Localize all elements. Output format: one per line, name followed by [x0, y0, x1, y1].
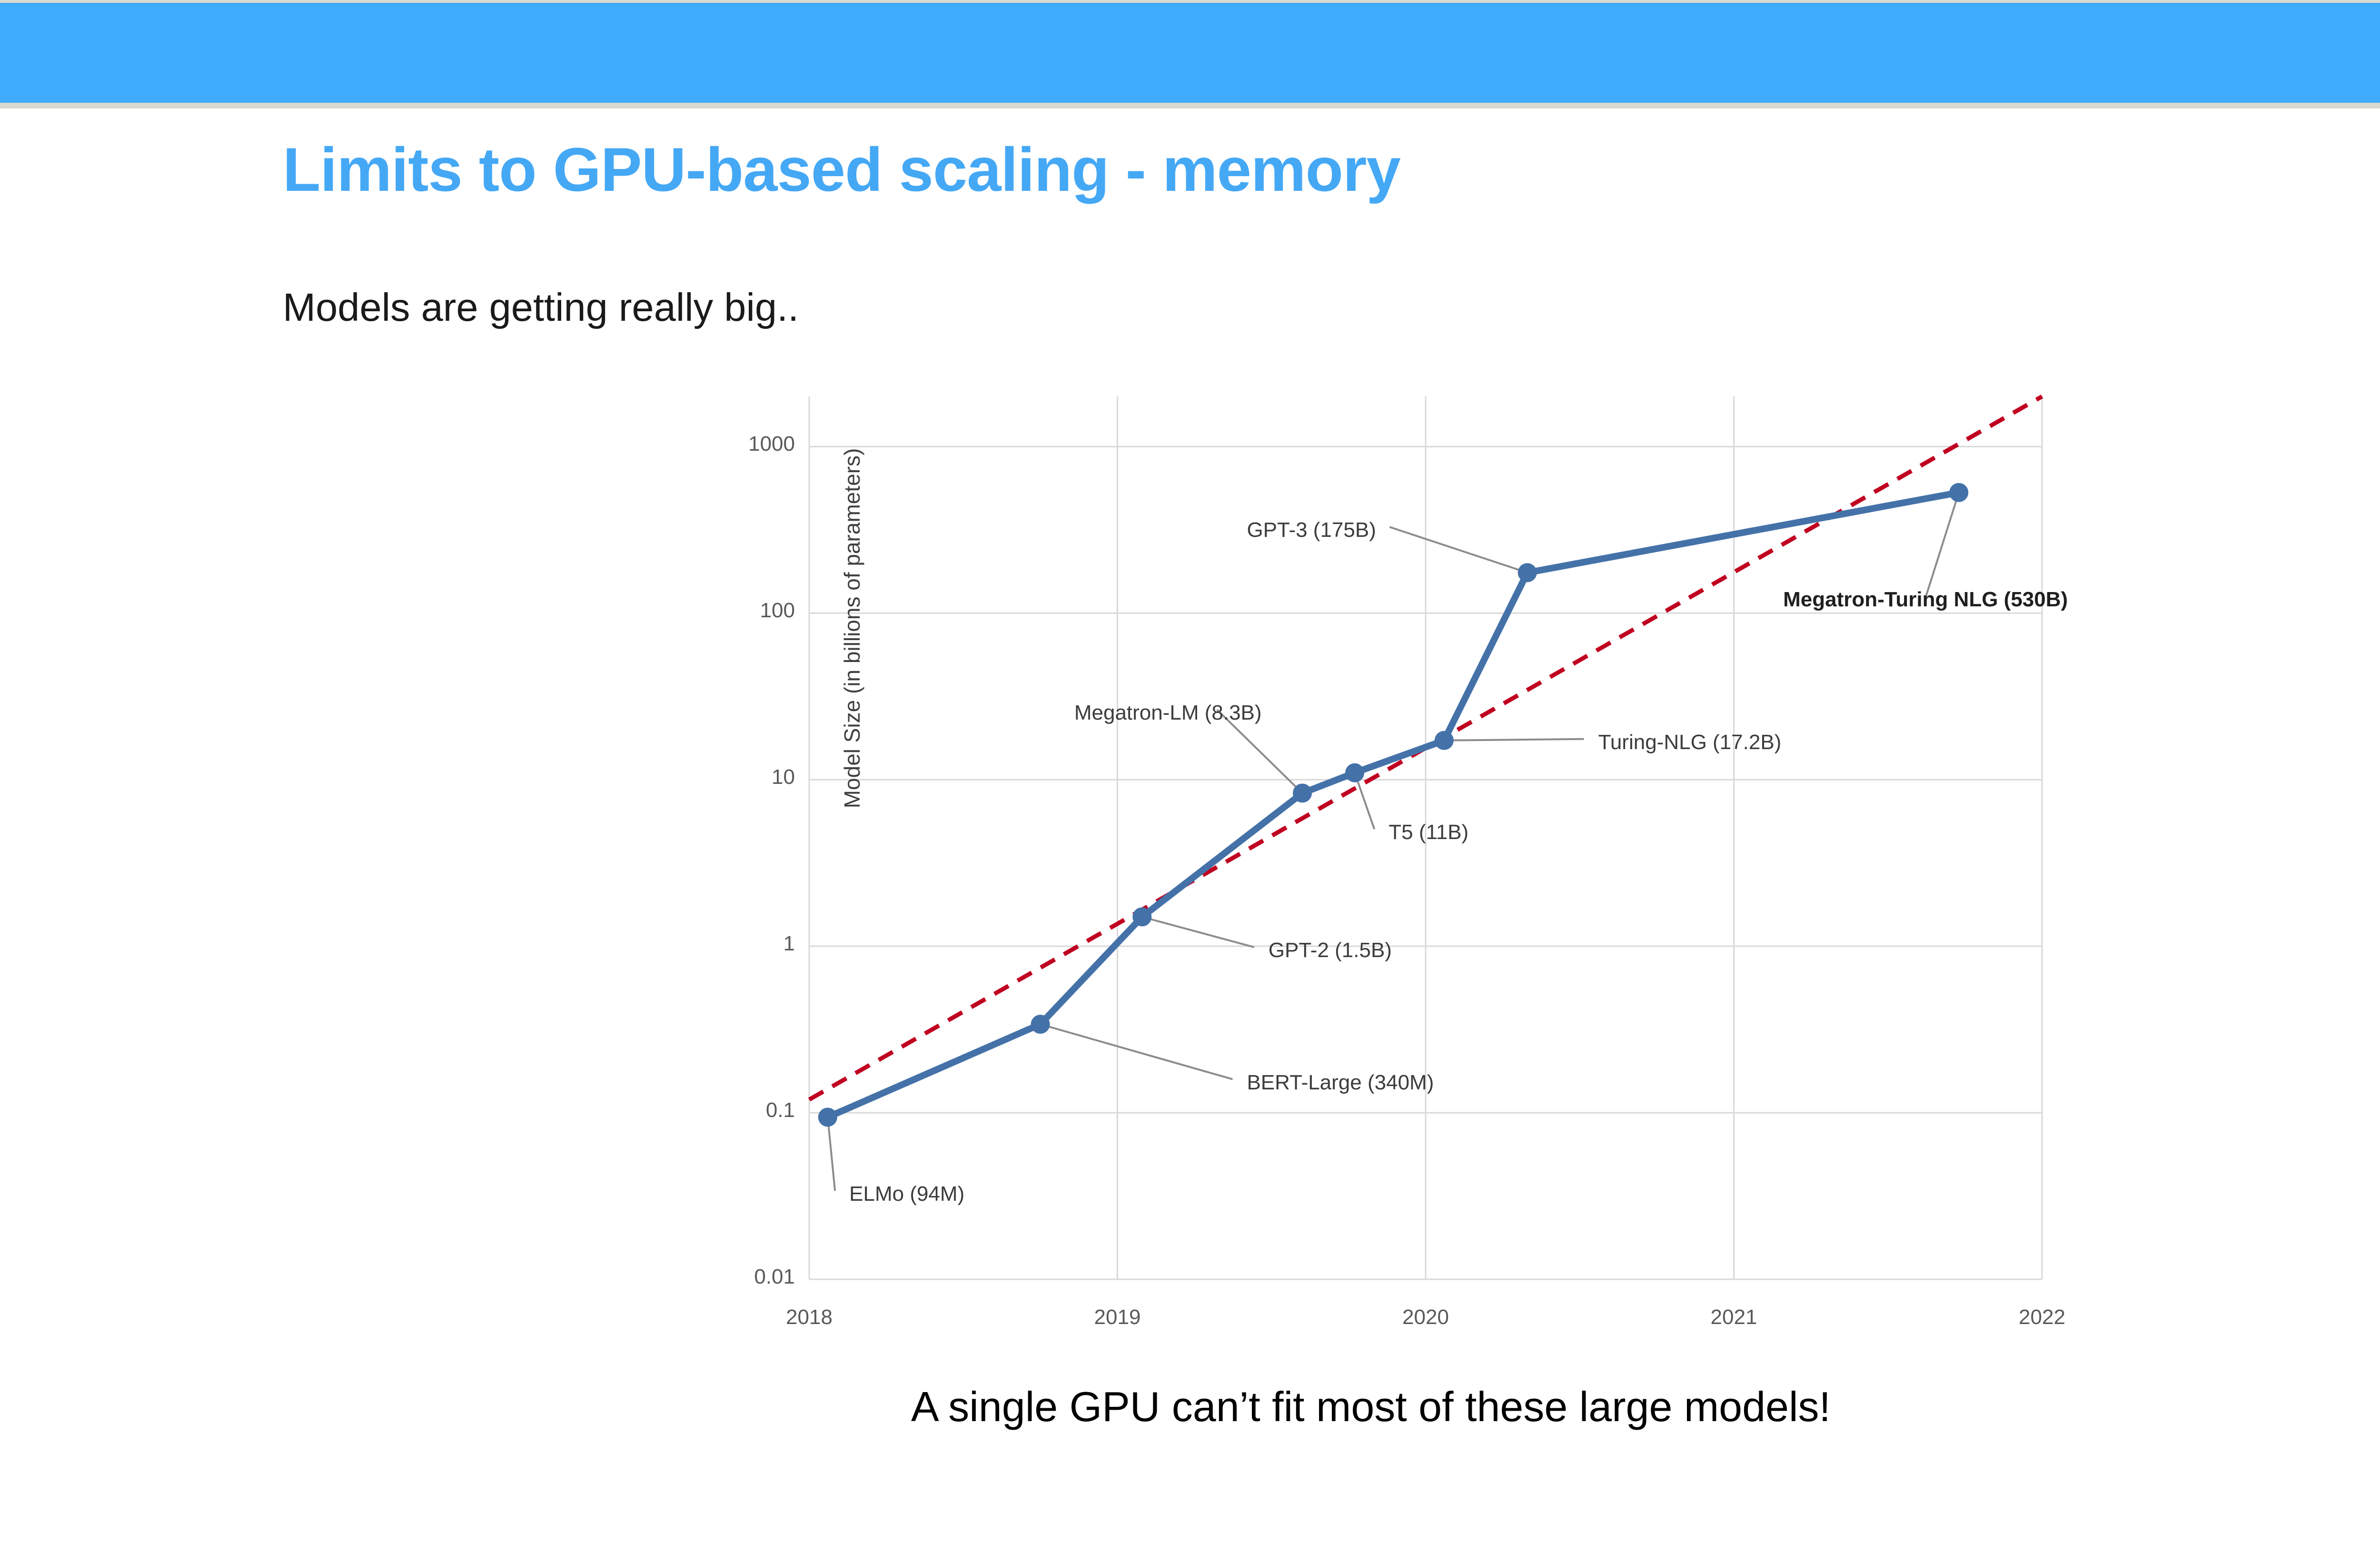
- x-axis-tick: 2019: [1056, 1305, 1180, 1329]
- subtitle-text: Models are getting really big..: [283, 286, 2380, 329]
- y-axis-tick: 0.01: [690, 1265, 795, 1289]
- model-size-chart: Model Size (in billions of parameters) 1…: [666, 381, 2142, 1314]
- slide: Limits to GPU-based scaling - memory Mod…: [0, 0, 2380, 1542]
- page-title: Limits to GPU-based scaling - memory: [283, 136, 2380, 204]
- slide-header-banner: [0, 3, 2380, 103]
- y-axis-tick: 1: [690, 932, 795, 956]
- x-axis-tick: 2018: [747, 1305, 871, 1329]
- x-axis-tick: 2022: [1980, 1305, 2104, 1329]
- data-point-label: T5 (11B): [1388, 820, 1468, 844]
- x-axis-tick: 2020: [1364, 1305, 1487, 1329]
- y-axis-tick: 1000: [690, 432, 795, 456]
- banner-bottom-divider: [0, 103, 2380, 109]
- chart-canvas: [666, 381, 2142, 1314]
- data-point-label: GPT-2 (1.5B): [1269, 939, 1392, 962]
- y-axis-tick: 100: [690, 599, 795, 623]
- data-point-label: BERT-Large (340M): [1247, 1071, 1434, 1095]
- data-point-label: ELMo (94M): [849, 1182, 964, 1206]
- data-point-label: GPT-3 (175B): [1247, 518, 1376, 542]
- data-point-label: Megatron-Turing NLG (530B): [1783, 588, 2068, 612]
- y-axis-tick: 10: [690, 765, 795, 789]
- x-axis-tick: 2021: [1672, 1305, 1796, 1329]
- caption-text: A single GPU can’t fit most of these lar…: [0, 1383, 2380, 1431]
- y-axis-label: Model Size (in billions of parameters): [839, 448, 865, 809]
- y-axis-label-wrapper: Model Size (in billions of parameters): [828, 414, 876, 842]
- data-point-label: Turing-NLG (17.2B): [1598, 731, 1782, 754]
- y-axis-tick: 0.1: [690, 1098, 795, 1122]
- data-point-label: Megatron-LM (8.3B): [1074, 701, 1262, 725]
